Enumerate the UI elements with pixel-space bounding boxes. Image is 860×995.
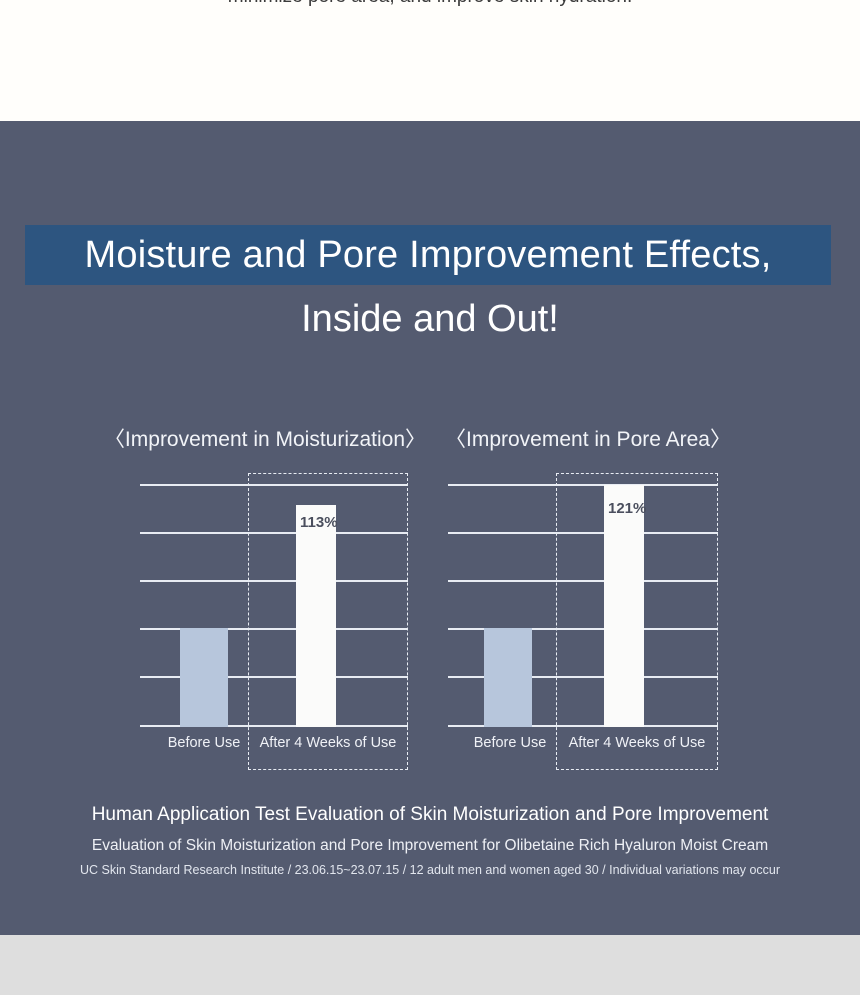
axis-label-before-use-pore-area: Before Use (464, 735, 556, 751)
footer-disclaimer: UC Skin Standard Research Institute / 23… (0, 863, 860, 877)
chart-pore-area: 121% Before Use After 4 Weeks of Use (448, 473, 718, 763)
bar-before-use-pore-area (484, 628, 532, 727)
top-white-strip: minimize pore area, and improve skin hyd… (0, 0, 860, 121)
footer-subheading: Evaluation of Skin Moisturization and Po… (0, 837, 860, 855)
page-title-line-2: Inside and Out! (0, 291, 860, 347)
bottom-gray-strip (0, 935, 860, 995)
cropped-body-text: minimize pore area, and improve skin hyd… (0, 0, 860, 8)
axis-label-before-use-moisturization: Before Use (158, 735, 250, 751)
highlight-dashed-box-pore-area (556, 473, 718, 770)
axis-label-after-4-weeks-moisturization: After 4 Weeks of Use (250, 735, 406, 751)
chart-title-moisturization: 〈Improvement in Moisturization〉 (100, 423, 430, 453)
chart-moisturization: 113% Before Use After 4 Weeks of Use (140, 473, 408, 763)
axis-label-after-4-weeks-pore-area: After 4 Weeks of Use (558, 735, 716, 751)
chart-title-pore-area: 〈Improvement in Pore Area〉 (445, 423, 725, 453)
bar-before-use-moisturization (180, 628, 228, 727)
highlight-dashed-box-moisturization (248, 473, 408, 770)
footer-heading: Human Application Test Evaluation of Ski… (0, 804, 860, 826)
page-title-line-1: Moisture and Pore Improvement Effects, (25, 225, 831, 285)
main-dark-panel: Moisture and Pore Improvement Effects, I… (0, 121, 860, 935)
